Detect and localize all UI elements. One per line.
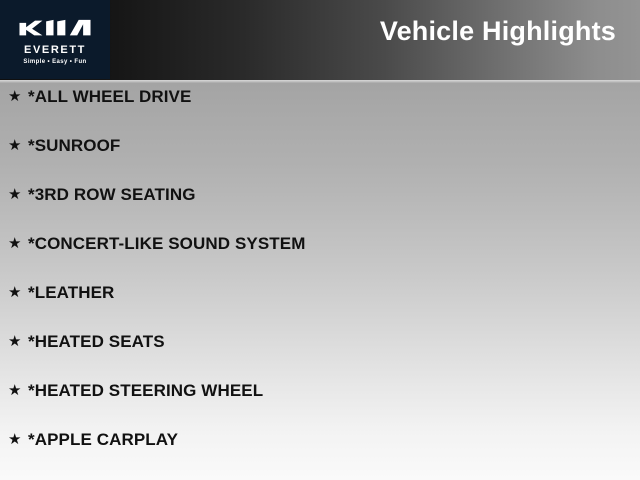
star-icon: ★ (8, 138, 28, 153)
star-icon: ★ (8, 334, 28, 349)
list-item: ★ *CONCERT-LIKE SOUND SYSTEM (0, 230, 640, 257)
highlights-panel: ★ *ALL WHEEL DRIVE ★ *SUNROOF ★ *3RD ROW… (0, 83, 640, 480)
star-icon: ★ (8, 285, 28, 300)
star-icon: ★ (8, 432, 28, 447)
vehicle-highlights-list: ★ *ALL WHEEL DRIVE ★ *SUNROOF ★ *3RD ROW… (0, 83, 640, 453)
highlight-label: *CONCERT-LIKE SOUND SYSTEM (28, 235, 305, 252)
dealer-logo-panel[interactable]: EVERETT Simple • Easy • Fun (0, 0, 110, 79)
star-icon: ★ (8, 187, 28, 202)
page-title: Vehicle Highlights (380, 18, 616, 45)
highlight-label: *HEATED SEATS (28, 333, 165, 350)
star-icon: ★ (8, 89, 28, 104)
list-item: ★ *HEATED SEATS (0, 328, 640, 355)
list-item: ★ *APPLE CARPLAY (0, 426, 640, 453)
dealer-name: EVERETT (24, 45, 86, 56)
kia-logo-icon (18, 17, 92, 39)
highlight-label: *ALL WHEEL DRIVE (28, 88, 191, 105)
list-item: ★ *HEATED STEERING WHEEL (0, 377, 640, 404)
vehicle-highlights-page: EVERETT Simple • Easy • Fun Vehicle High… (0, 0, 640, 480)
star-icon: ★ (8, 383, 28, 398)
dealer-tagline: Simple • Easy • Fun (23, 59, 86, 65)
star-icon: ★ (8, 236, 28, 251)
list-item: ★ *SUNROOF (0, 132, 640, 159)
highlight-label: *SUNROOF (28, 137, 120, 154)
page-header: EVERETT Simple • Easy • Fun Vehicle High… (0, 0, 640, 80)
highlight-label: *3RD ROW SEATING (28, 186, 196, 203)
list-item: ★ *LEATHER (0, 279, 640, 306)
list-item: ★ *ALL WHEEL DRIVE (0, 83, 640, 110)
highlight-label: *HEATED STEERING WHEEL (28, 382, 263, 399)
highlight-label: *APPLE CARPLAY (28, 431, 178, 448)
highlight-label: *LEATHER (28, 284, 114, 301)
list-item: ★ *3RD ROW SEATING (0, 181, 640, 208)
